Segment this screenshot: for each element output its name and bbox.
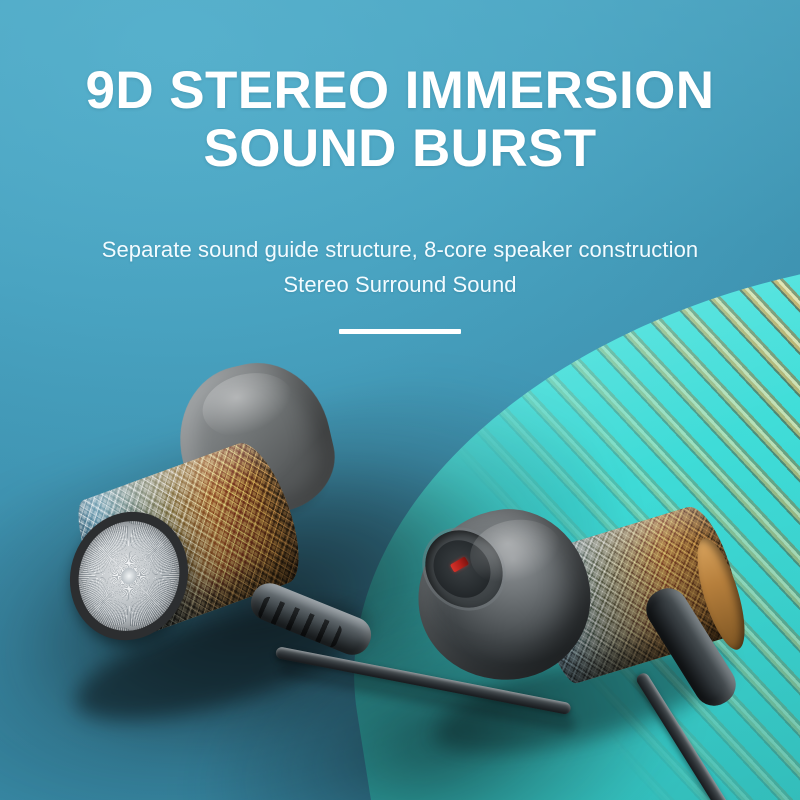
right-earbud <box>418 498 748 748</box>
subtitle-line-1: Separate sound guide structure, 8-core s… <box>0 232 800 267</box>
hero-text-block: 9D STEREO IMMERSION SOUND BURST Separate… <box>0 62 800 334</box>
headline-line-2: SOUND BURST <box>0 120 800 178</box>
headline-line-1: 9D STEREO IMMERSION <box>0 62 800 120</box>
hero-subtitle: Separate sound guide structure, 8-core s… <box>0 178 800 302</box>
left-earbud <box>62 362 382 682</box>
product-hero-banner: 9D STEREO IMMERSION SOUND BURST Separate… <box>0 0 800 800</box>
page-title: 9D STEREO IMMERSION SOUND BURST <box>0 62 800 178</box>
divider-rule <box>339 329 461 334</box>
subtitle-line-2: Stereo Surround Sound <box>0 267 800 302</box>
